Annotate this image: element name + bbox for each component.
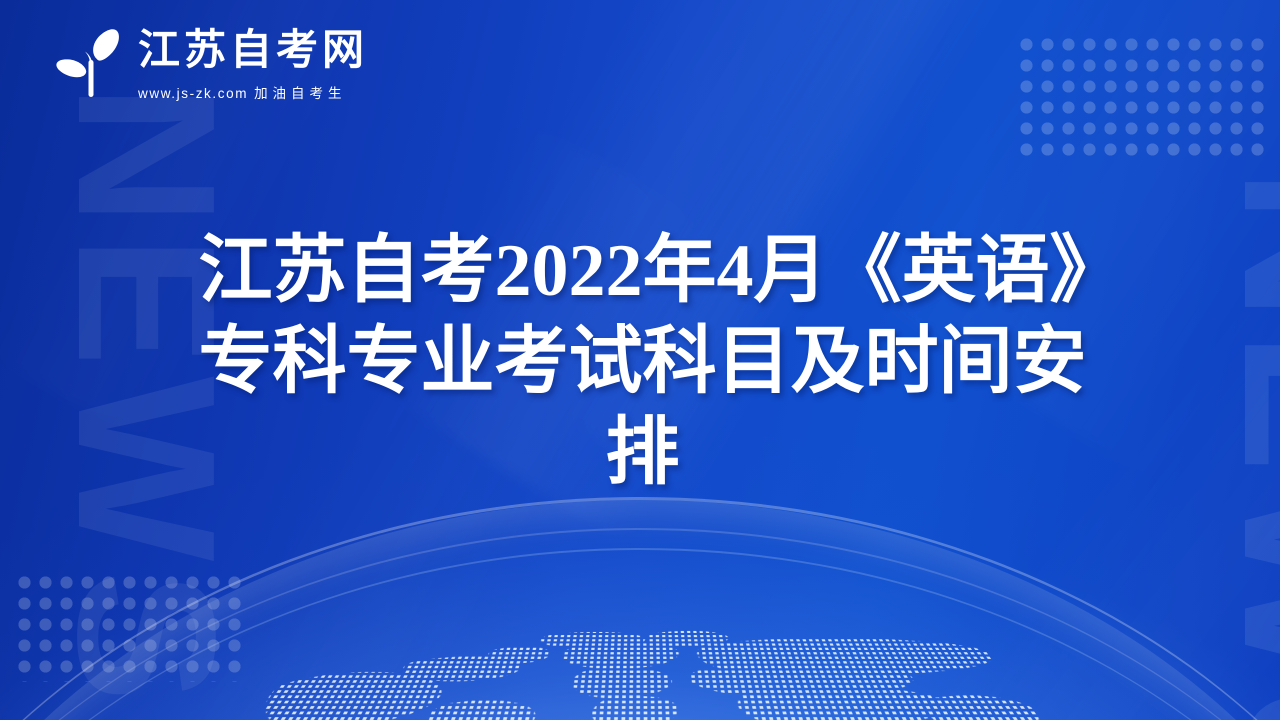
logo-tagline-cn: 加油自考生 [254, 86, 347, 101]
news-banner: NEWS NEWS 江苏自考网 www.js-zk.com加油自考生 江苏自考2… [0, 0, 1280, 720]
logo-tagline: www.js-zk.com加油自考生 [138, 82, 368, 102]
sprout-icon [44, 26, 132, 104]
dotted-world-map-icon [170, 630, 1110, 720]
page-title: 江苏自考2022年4月《英语》专科专业考试科目及时间安排 [190, 226, 1095, 499]
dot-grid-top-right-icon [1016, 34, 1270, 159]
logo-title: 江苏自考网 [138, 29, 368, 71]
logo-tagline-url: www.js-zk.com [138, 86, 248, 101]
logo-text-block: 江苏自考网 www.js-zk.com加油自考生 [138, 29, 368, 102]
site-logo[interactable]: 江苏自考网 www.js-zk.com加油自考生 [44, 26, 368, 104]
globe-graphic [0, 490, 1280, 720]
